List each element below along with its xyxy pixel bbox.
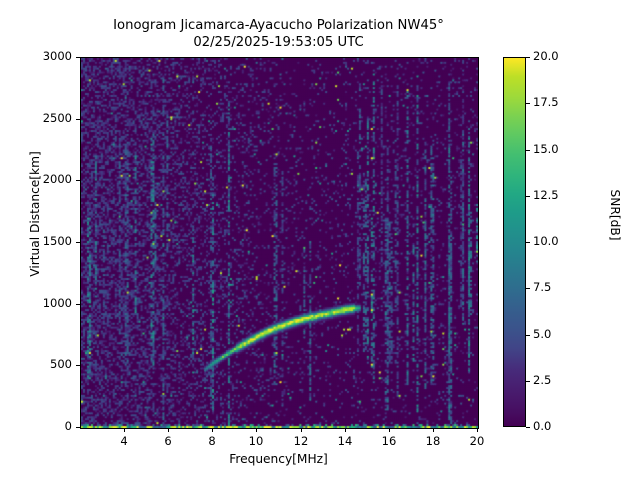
x-tick-label: 14: [320, 434, 370, 448]
x-tick-mark: [124, 428, 125, 432]
x-tick-mark: [433, 428, 434, 432]
x-tick-mark: [477, 428, 478, 432]
y-tick-mark: [76, 304, 80, 305]
x-tick-label: 10: [231, 434, 281, 448]
x-tick-mark: [301, 428, 302, 432]
y-tick-mark: [76, 242, 80, 243]
y-tick-mark: [76, 119, 80, 120]
colorbar-tick-mark: [526, 381, 530, 382]
y-tick-mark: [76, 180, 80, 181]
colorbar-tick-label: 12.5: [533, 188, 559, 202]
ionogram-heatmap-canvas: [81, 58, 478, 428]
colorbar: [503, 57, 526, 427]
colorbar-tick-mark: [526, 150, 530, 151]
y-tick-label: 500: [20, 357, 72, 371]
colorbar-tick-label: 2.5: [533, 373, 551, 387]
colorbar-tick-mark: [526, 335, 530, 336]
y-tick-mark: [76, 365, 80, 366]
chart-title-line1: Ionogram Jicamarca-Ayacucho Polarization…: [113, 18, 444, 33]
colorbar-tick-label: 17.5: [533, 95, 559, 109]
ionogram-figure: Ionogram Jicamarca-Ayacucho Polarization…: [0, 0, 640, 480]
x-tick-label: 18: [408, 434, 458, 448]
heatmap-plot-area: [80, 57, 479, 429]
chart-title-line2: 02/25/2025-19:53:05 UTC: [193, 35, 363, 50]
x-tick-label: 4: [99, 434, 149, 448]
y-tick-label: 0: [20, 419, 72, 433]
x-tick-mark: [345, 428, 346, 432]
chart-title: Ionogram Jicamarca-Ayacucho Polarization…: [80, 18, 477, 51]
colorbar-tick-label: 10.0: [533, 234, 559, 248]
colorbar-tick-mark: [526, 57, 530, 58]
colorbar-tick-mark: [526, 288, 530, 289]
x-tick-mark: [389, 428, 390, 432]
colorbar-tick-label: 7.5: [533, 280, 551, 294]
x-tick-label: 6: [143, 434, 193, 448]
colorbar-label: SNR[dB]: [608, 105, 622, 325]
x-tick-mark: [168, 428, 169, 432]
colorbar-gradient: [503, 57, 526, 427]
y-tick-mark: [76, 57, 80, 58]
colorbar-tick-label: 20.0: [533, 49, 559, 63]
x-axis-label: Frequency[MHz]: [80, 452, 477, 466]
x-tick-label: 12: [276, 434, 326, 448]
colorbar-tick-label: 5.0: [533, 327, 551, 341]
x-tick-label: 16: [364, 434, 414, 448]
colorbar-tick-label: 0.0: [533, 419, 551, 433]
colorbar-tick-label: 15.0: [533, 142, 559, 156]
y-axis-label: Virtual Distance[km]: [28, 104, 42, 324]
colorbar-tick-mark: [526, 242, 530, 243]
x-tick-label: 8: [187, 434, 237, 448]
colorbar-tick-mark: [526, 427, 530, 428]
colorbar-tick-mark: [526, 196, 530, 197]
colorbar-tick-mark: [526, 103, 530, 104]
x-tick-label: 20: [452, 434, 502, 448]
x-tick-mark: [256, 428, 257, 432]
x-tick-mark: [212, 428, 213, 432]
y-tick-label: 3000: [20, 49, 72, 63]
y-tick-mark: [76, 427, 80, 428]
